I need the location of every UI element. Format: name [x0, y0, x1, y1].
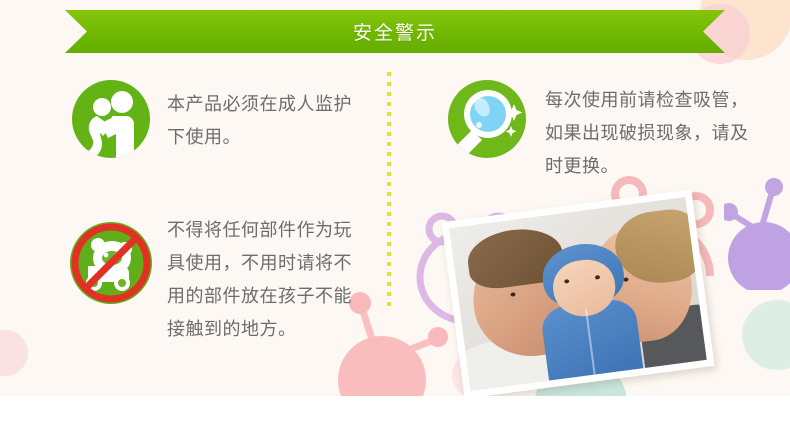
safety-warning-section: 安全警示	[0, 0, 790, 434]
page-title: 安全警示	[353, 18, 437, 45]
magnifying-glass-glyph	[448, 80, 526, 158]
mint-circle-decoration	[742, 300, 790, 370]
pink-circle-decoration-left	[0, 330, 28, 376]
family-photo-image	[449, 197, 706, 391]
purple-germ-decoration	[724, 170, 790, 290]
adult-holding-baby-icon	[72, 80, 150, 158]
photo-baby-eye-left	[564, 279, 569, 284]
no-toy-prohibited-glyph	[70, 222, 152, 304]
photo-baby-eye-right	[595, 275, 600, 280]
no-toy-prohibited-icon	[70, 222, 152, 304]
warning-text-inspect-straw: 每次使用前请检查吸管， 如果出现破损现象，请及 时更换。	[545, 84, 760, 183]
warning-text-not-a-toy: 不得将任何部件作为玩 具使用，不用时请将不 用的部件放在孩子不能 接触到的地方。	[167, 214, 382, 346]
family-photo	[441, 189, 714, 396]
section-banner: 安全警示	[65, 10, 725, 53]
warning-text-adult-supervision: 本产品必须在成人监护 下使用。	[167, 88, 377, 154]
magnifying-glass-icon	[448, 80, 526, 158]
adult-holding-baby-glyph	[72, 80, 150, 158]
cream-background-panel: 安全警示	[0, 0, 790, 396]
column-divider	[387, 72, 391, 308]
